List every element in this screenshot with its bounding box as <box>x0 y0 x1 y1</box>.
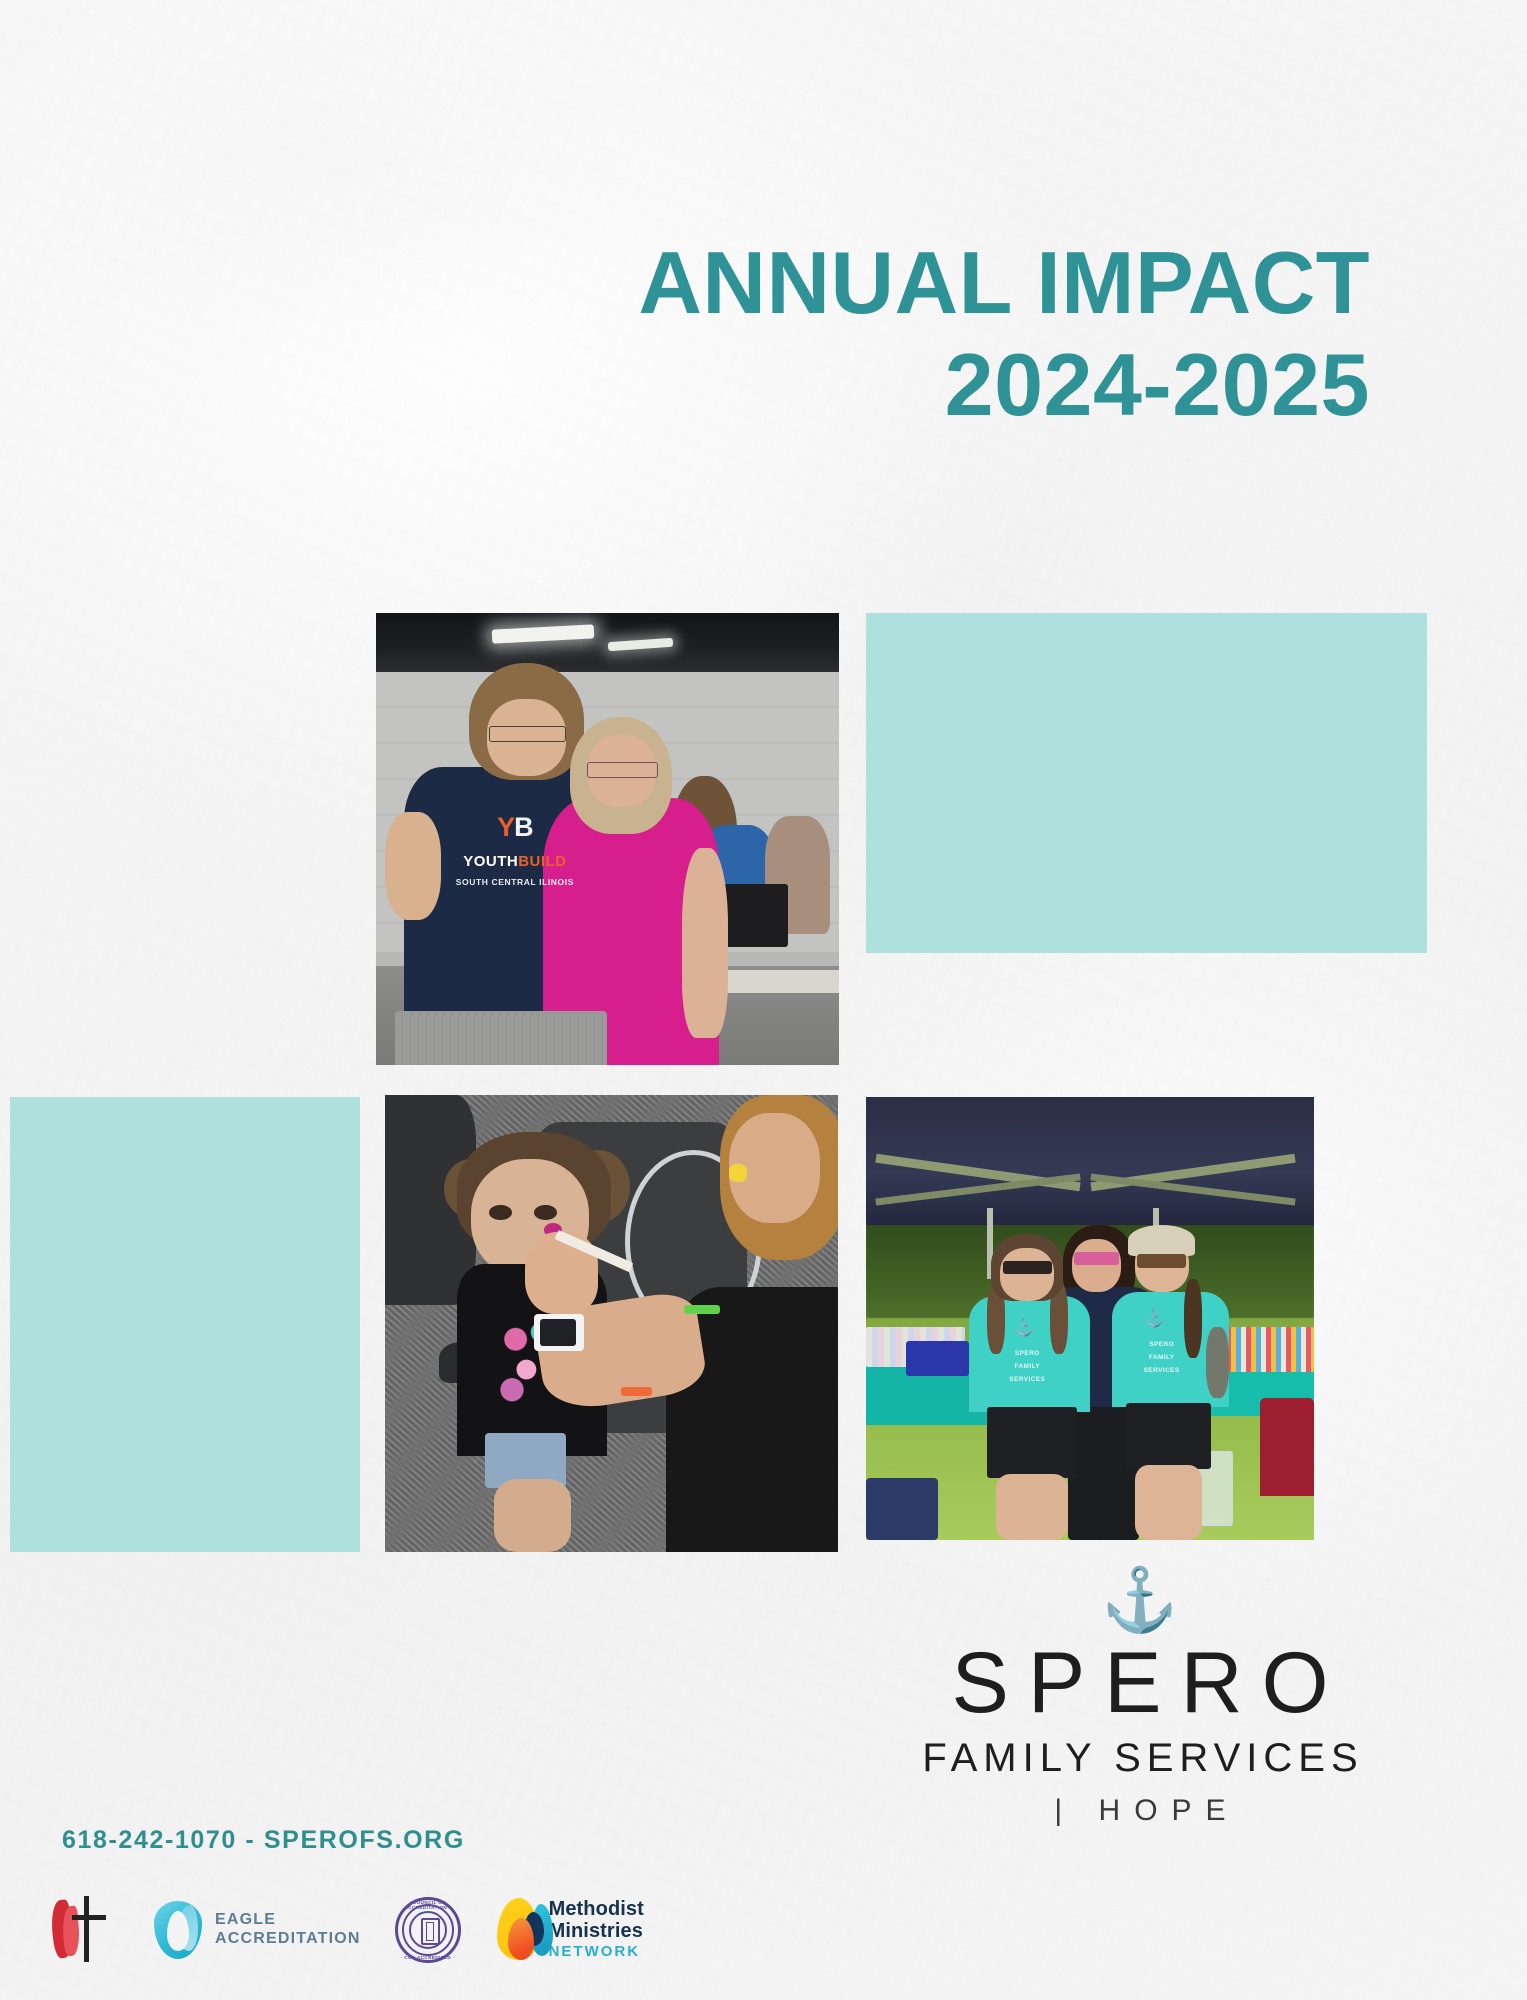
eagle-droplet-icon <box>150 1899 206 1961</box>
face-painting-photo <box>385 1095 838 1552</box>
eagle-accreditation-logo: EAGLE ACCREDITATION <box>150 1899 361 1961</box>
placeholder-block-top-right <box>866 613 1427 953</box>
spero-tagline: | HOPE <box>894 1794 1400 1828</box>
tee-text-right-line-2: FAMILY <box>1121 1354 1202 1361</box>
methodist-ministries-network-logo: Methodist Ministries NETWORK <box>495 1896 690 1964</box>
youthbuild-monogram-b: B <box>514 812 533 842</box>
youthbuild-monogram-y: Y <box>497 812 514 842</box>
coa-seal-top-text: · COUNCIL ON ACCREDITATION · <box>395 1900 461 1910</box>
tee-anchor-icon-right: ⚓ <box>1144 1310 1165 1327</box>
anchor-icon: ⚓ <box>880 1570 1400 1632</box>
youthbuild-wordmark: YOUTHBUILD <box>422 853 607 870</box>
cross-and-flame-icon <box>50 1894 116 1966</box>
tee-anchor-icon-left: ⚓ <box>1014 1319 1035 1336</box>
eagle-label-line-2: ACCREDITATION <box>215 1930 361 1949</box>
ministries-flame-icon <box>495 1896 540 1964</box>
youthbuild-subtitle: SOUTH CENTRAL ILINOIS <box>422 877 607 887</box>
title-line-annual-impact: ANNUAL IMPACT <box>0 232 1370 334</box>
youthbuild-monogram: YB <box>464 812 566 843</box>
eagle-label-line-1: EAGLE <box>215 1911 361 1930</box>
outreach-tent-photo: ⚓ SPERO FAMILY SERVICES ⚓ SPERO FAMILY S… <box>866 1097 1314 1540</box>
title-line-year-range: 2024-2025 <box>0 334 1370 436</box>
food-pantry-photo: YB YOUTHBUILD SOUTH CENTRAL ILINOIS <box>376 613 839 1065</box>
annual-impact-report-cover: ANNUAL IMPACT 2024-2025 <box>0 0 1527 2000</box>
page-title: ANNUAL IMPACT 2024-2025 <box>0 232 1370 436</box>
mmn-label-line-1: Methodist Ministries <box>549 1898 690 1942</box>
coa-seal-icon: · COUNCIL ON ACCREDITATION · · COA ACCRE… <box>395 1897 461 1963</box>
placeholder-block-bottom-left <box>10 1097 360 1552</box>
youthbuild-wordmark-build: BUILD <box>518 853 566 870</box>
spero-logo: ⚓ SPERO FAMILY SERVICES | HOPE <box>880 1570 1400 1828</box>
spero-wordmark: SPERO <box>899 1638 1400 1728</box>
council-on-accreditation-logo: · COUNCIL ON ACCREDITATION · · COA ACCRE… <box>395 1897 461 1963</box>
methodist-ministries-label: Methodist Ministries NETWORK <box>549 1898 690 1962</box>
eagle-accreditation-label: EAGLE ACCREDITATION <box>215 1911 361 1949</box>
united-methodist-church-logo <box>50 1894 116 1966</box>
tee-text-right-line-1: SPERO <box>1121 1341 1202 1348</box>
contact-line[interactable]: 618-242-1070 - SPEROFS.ORG <box>62 1826 465 1855</box>
tee-text-right-line-3: SERVICES <box>1121 1367 1202 1374</box>
coa-seal-bottom-text: · COA ACCREDITED · <box>395 1955 461 1960</box>
youthbuild-wordmark-youth: YOUTH <box>463 853 518 870</box>
tee-text-left-line-2: FAMILY <box>987 1363 1068 1370</box>
tee-text-left-line-3: SERVICES <box>987 1376 1068 1383</box>
mmn-label-line-2: NETWORK <box>549 1942 690 1962</box>
tee-text-left-line-1: SPERO <box>987 1350 1068 1357</box>
spero-subtitle: FAMILY SERVICES <box>886 1736 1400 1780</box>
partner-logo-row: EAGLE ACCREDITATION · COUNCIL ON ACCREDI… <box>50 1884 690 1976</box>
